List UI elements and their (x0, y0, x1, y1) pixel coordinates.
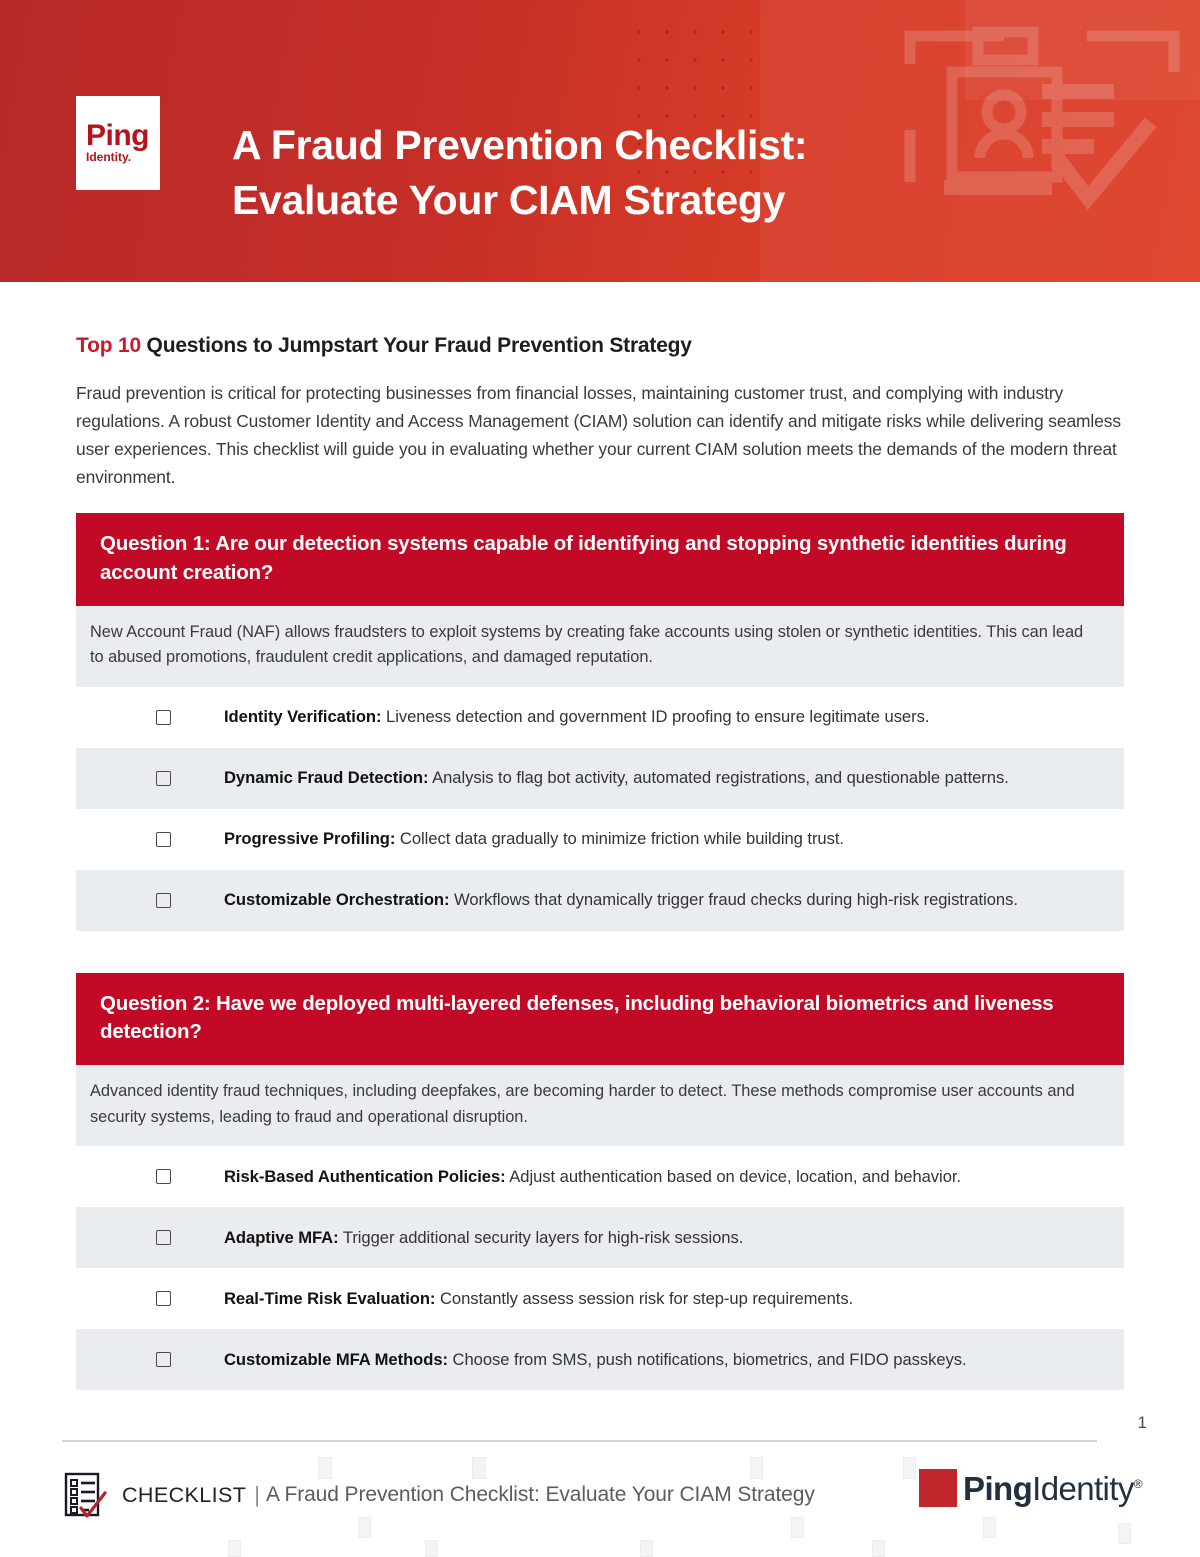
checklist-item-detail: Collect data gradually to minimize frict… (395, 829, 844, 848)
checkbox-icon[interactable] (156, 1230, 171, 1245)
checklist-item-text: Risk-Based Authentication Policies: Adju… (224, 1165, 961, 1189)
footer-divider-rule (62, 1440, 1097, 1442)
checkbox-icon[interactable] (156, 1352, 171, 1367)
logo-ping-text: Ping (86, 122, 149, 151)
scan-artifact (872, 1540, 885, 1557)
footer-bar: CHECKLIST | A Fraud Prevention Checklist… (62, 1465, 1142, 1525)
checkbox-icon[interactable] (156, 1169, 171, 1184)
scan-artifact (640, 1540, 653, 1557)
checklist-row[interactable]: Adaptive MFA: Trigger additional securit… (76, 1207, 1124, 1268)
checkbox-icon[interactable] (156, 1291, 171, 1306)
checklist-item-detail: Liveness detection and government ID pro… (382, 707, 930, 726)
footer-label: CHECKLIST (122, 1483, 246, 1508)
intro-heading-accent: Top 10 (76, 334, 141, 357)
checklist-item-term: Dynamic Fraud Detection: (224, 768, 428, 787)
intro-heading: Top 10 Questions to Jumpstart Your Fraud… (76, 334, 1124, 358)
checkbox-icon[interactable] (156, 893, 171, 908)
checklist-item-term: Adaptive MFA: (224, 1228, 339, 1247)
logo-identity-text: Identity. (86, 151, 131, 164)
questions-container: Question 1: Are our detection systems ca… (76, 513, 1124, 1390)
checklist-item-text: Real-Time Risk Evaluation: Constantly as… (224, 1287, 853, 1311)
ping-identity-logo-header: Ping Identity. (76, 96, 160, 190)
checklist-item-text: Customizable MFA Methods: Choose from SM… (224, 1348, 967, 1372)
checklist-item-term: Identity Verification: (224, 707, 382, 726)
checklist-items: Identity Verification: Liveness detectio… (76, 687, 1124, 931)
logo-red-square (919, 1469, 957, 1507)
question-section-2: Question 2: Have we deployed multi-layer… (76, 973, 1124, 1390)
checkbox-icon[interactable] (156, 771, 171, 786)
checkbox-icon[interactable] (156, 832, 171, 847)
scan-artifact (228, 1540, 241, 1557)
checklist-row[interactable]: Identity Verification: Liveness detectio… (76, 687, 1124, 748)
document-body: Top 10 Questions to Jumpstart Your Fraud… (0, 334, 1200, 1390)
question-description: New Account Fraud (NAF) allows fraudster… (76, 606, 1124, 687)
checklist-item-text: Customizable Orchestration: Workflows th… (224, 888, 1018, 912)
logo-wordmark: PingIdentity® (963, 1472, 1142, 1505)
checklist-row[interactable]: Dynamic Fraud Detection: Analysis to fla… (76, 748, 1124, 809)
checklist-item-term: Customizable Orchestration: (224, 890, 449, 909)
checklist-item-text: Dynamic Fraud Detection: Analysis to fla… (224, 766, 1009, 790)
checklist-item-detail: Trigger additional security layers for h… (339, 1228, 744, 1247)
checklist-item-text: Adaptive MFA: Trigger additional securit… (224, 1226, 743, 1250)
page-number: 1 (1138, 1413, 1147, 1433)
checklist-row[interactable]: Progressive Profiling: Collect data grad… (76, 809, 1124, 870)
checklist-item-detail: Workflows that dynamically trigger fraud… (449, 890, 1017, 909)
checklist-item-detail: Adjust authentication based on device, l… (506, 1167, 961, 1186)
ping-identity-logo-footer: PingIdentity® (919, 1469, 1142, 1507)
checklist-row[interactable]: Real-Time Risk Evaluation: Constantly as… (76, 1268, 1124, 1329)
checklist-item-term: Progressive Profiling: (224, 829, 395, 848)
page-title: A Fraud Prevention Checklist:Evaluate Yo… (232, 118, 992, 227)
checklist-item-term: Risk-Based Authentication Policies: (224, 1167, 506, 1186)
question-description: Advanced identity fraud techniques, incl… (76, 1065, 1124, 1146)
scan-artifact (425, 1540, 438, 1557)
checklist-item-detail: Constantly assess session risk for step-… (435, 1289, 853, 1308)
checklist-item-detail: Choose from SMS, push notifications, bio… (448, 1350, 967, 1369)
scan-artifact (1118, 1523, 1131, 1544)
checklist-item-term: Real-Time Risk Evaluation: (224, 1289, 435, 1308)
page-title-line-1: A Fraud Prevention Checklist: (232, 118, 992, 173)
checklist-row[interactable]: Customizable MFA Methods: Choose from SM… (76, 1329, 1124, 1390)
checklist-item-term: Customizable MFA Methods: (224, 1350, 448, 1369)
checklist-item-detail: Analysis to flag bot activity, automated… (428, 768, 1008, 787)
checklist-item-text: Progressive Profiling: Collect data grad… (224, 827, 844, 851)
logo-registered-mark: ® (1134, 1477, 1142, 1491)
checkbox-icon[interactable] (156, 710, 171, 725)
question-banner: Question 2: Have we deployed multi-layer… (76, 973, 1124, 1066)
footer-subtitle: A Fraud Prevention Checklist: Evaluate Y… (266, 1483, 815, 1507)
page-title-line-2: Evaluate Your CIAM Strategy (232, 173, 992, 228)
page-header: Ping Identity. A Fraud Prevention Checkl… (0, 0, 1200, 282)
logo-ping-text: Ping (963, 1470, 1032, 1507)
question-section-1: Question 1: Are our detection systems ca… (76, 513, 1124, 930)
question-banner: Question 1: Are our detection systems ca… (76, 513, 1124, 606)
page-footer: 1 CHECKLIST | A Fraud Preve (0, 1405, 1200, 1555)
checklist-item-text: Identity Verification: Liveness detectio… (224, 705, 929, 729)
checklist-row[interactable]: Customizable Orchestration: Workflows th… (76, 870, 1124, 931)
checklist-items: Risk-Based Authentication Policies: Adju… (76, 1146, 1124, 1390)
intro-paragraph: Fraud prevention is critical for protect… (76, 380, 1124, 491)
footer-divider-pipe: | (254, 1482, 260, 1508)
intro-heading-rest: Questions to Jumpstart Your Fraud Preven… (141, 334, 692, 357)
checklist-clipboard-icon (62, 1471, 108, 1519)
checklist-row[interactable]: Risk-Based Authentication Policies: Adju… (76, 1146, 1124, 1207)
logo-identity-text: Identity (1032, 1470, 1134, 1507)
